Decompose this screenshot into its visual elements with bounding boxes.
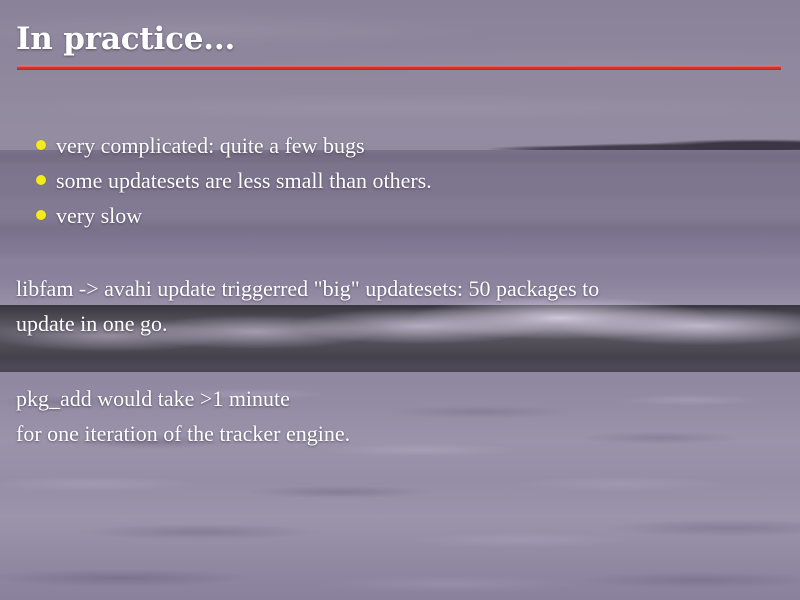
paragraph-line: pkg_add would take >1 minute [16, 381, 776, 416]
paragraph-line: libfam -> avahi update triggerred "big" … [16, 271, 776, 306]
bullet-dot-icon [36, 210, 46, 220]
bullet-dot-icon [36, 175, 46, 185]
body-paragraph-2: pkg_add would take >1 minute for one ite… [16, 381, 776, 451]
bullet-list: very complicated: quite a few bugs some … [34, 128, 432, 233]
paragraph-line: update in one go. [16, 306, 776, 341]
list-item: some updatesets are less small than othe… [34, 163, 432, 198]
slide-title: In practice... [16, 21, 235, 57]
list-item-label: very complicated: quite a few bugs [56, 133, 365, 158]
list-item-label: very slow [56, 203, 142, 228]
list-item: very slow [34, 198, 432, 233]
slide-content: In practice... very complicated: quite a… [0, 0, 800, 600]
presentation-slide: In practice... very complicated: quite a… [0, 0, 800, 600]
bullet-dot-icon [36, 140, 46, 150]
list-item-label: some updatesets are less small than othe… [56, 168, 432, 193]
title-underline-rule [17, 65, 781, 70]
list-item: very complicated: quite a few bugs [34, 128, 432, 163]
paragraph-line: for one iteration of the tracker engine. [16, 416, 776, 451]
body-paragraph-1: libfam -> avahi update triggerred "big" … [16, 271, 776, 341]
